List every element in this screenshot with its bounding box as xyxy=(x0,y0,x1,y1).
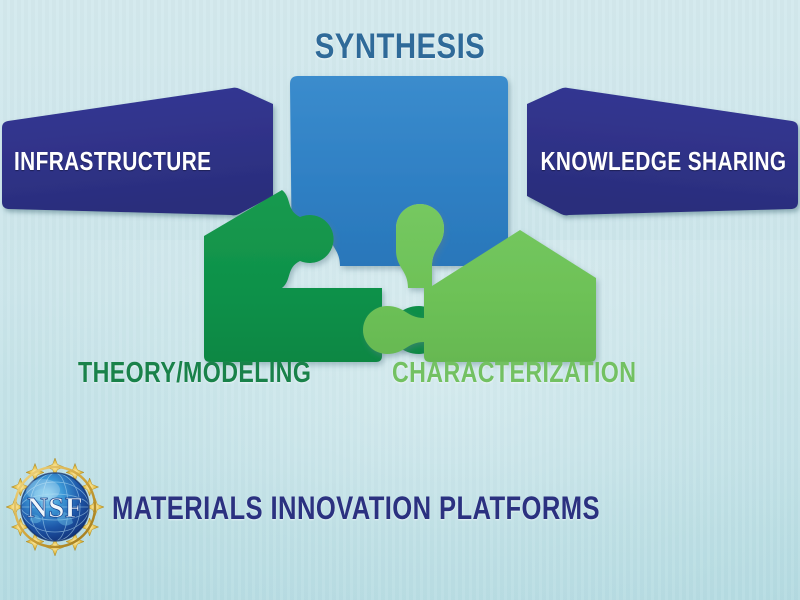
label-theory-modeling: THEORY/MODELING xyxy=(78,357,311,390)
nsf-logo[interactable]: NSF xyxy=(5,457,105,557)
label-synthesis: SYNTHESIS xyxy=(64,27,736,67)
poster-canvas: SYNTHESIS INFRASTRUCTURE KNOWLEDGE SHARI… xyxy=(0,0,800,600)
nsf-wordmark: NSF xyxy=(27,492,83,524)
program-title: MATERIALS INNOVATION PLATFORMS xyxy=(112,490,600,527)
label-infrastructure: INFRASTRUCTURE xyxy=(14,146,211,177)
label-knowledge-sharing: KNOWLEDGE SHARING xyxy=(540,146,786,177)
label-characterization: CHARACTERIZATION xyxy=(392,357,636,390)
